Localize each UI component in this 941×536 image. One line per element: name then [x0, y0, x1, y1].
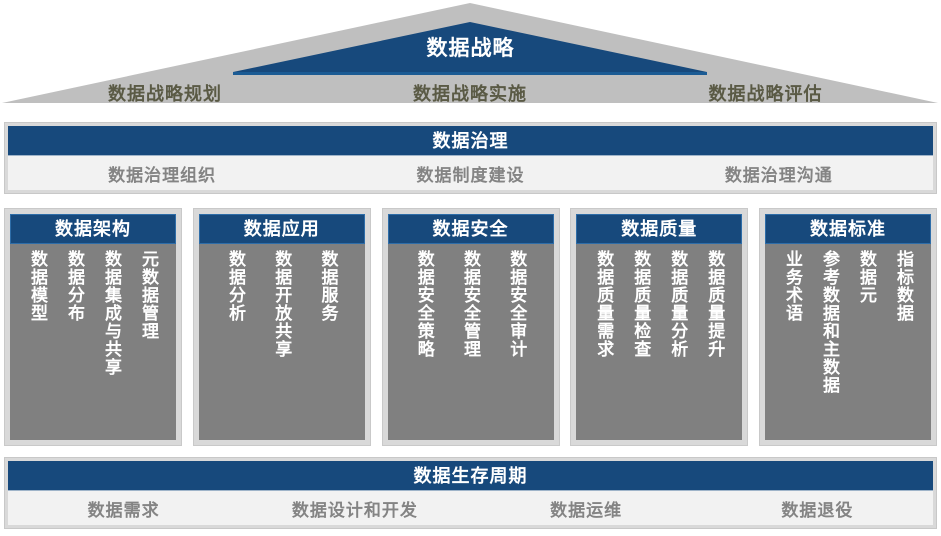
pillar-data-standard[interactable]: 数据标准 业务术语 参考数据和主数据 数据元 指标数据: [759, 208, 937, 446]
governance-subitem-policy[interactable]: 数据制度建设: [316, 161, 624, 186]
roof-inner-triangle-base: [233, 72, 707, 75]
lifecycle-band: 数据生存周期 数据需求 数据设计和开发 数据运维 数据退役: [4, 457, 937, 529]
pillar-item[interactable]: 参考数据和主数据: [820, 250, 839, 394]
pillar-data-quality[interactable]: 数据质量 数据质量需求 数据质量检查 数据质量分析 数据质量提升: [570, 208, 748, 446]
pillar-title-data-security: 数据安全: [388, 214, 554, 244]
roof-section: 数据战略 数据战略规划 数据战略实施 数据战略评估: [0, 0, 941, 106]
pillar-item[interactable]: 数据安全策略: [415, 250, 434, 358]
pillar-item[interactable]: 数据质量分析: [668, 250, 687, 358]
pillar-item[interactable]: 数据集成与共享: [102, 250, 121, 376]
pillar-title-data-architecture: 数据架构: [10, 214, 176, 244]
governance-subitem-organization[interactable]: 数据治理组织: [8, 161, 316, 186]
pillar-title-data-quality: 数据质量: [576, 214, 742, 244]
lifecycle-band-inner: 数据生存周期 数据需求 数据设计和开发 数据运维 数据退役: [8, 461, 933, 525]
pillar-body-data-security: 数据安全策略 数据安全管理 数据安全审计: [388, 244, 554, 440]
lifecycle-subitem-requirement[interactable]: 数据需求: [8, 496, 239, 521]
roof-subitem-planning[interactable]: 数据战略规划: [0, 80, 330, 106]
pillar-item[interactable]: 数据安全审计: [507, 250, 526, 358]
pillar-body-data-quality: 数据质量需求 数据质量检查 数据质量分析 数据质量提升: [576, 244, 742, 440]
governance-band: 数据治理 数据治理组织 数据制度建设 数据治理沟通: [4, 122, 937, 194]
pillar-title-data-application: 数据应用: [199, 214, 365, 244]
pillar-data-security[interactable]: 数据安全 数据安全策略 数据安全管理 数据安全审计: [382, 208, 560, 446]
lifecycle-subitems: 数据需求 数据设计和开发 数据运维 数据退役: [8, 491, 933, 525]
pillar-item[interactable]: 指标数据: [894, 250, 913, 322]
pillar-item[interactable]: 数据质量需求: [594, 250, 613, 358]
data-governance-framework-diagram: 数据战略 数据战略规划 数据战略实施 数据战略评估 数据治理 数据治理组织 数据…: [0, 0, 941, 536]
pillar-item[interactable]: 数据分析: [226, 250, 245, 322]
pillar-item[interactable]: 数据开放共享: [272, 250, 291, 358]
roof-subitem-evaluation[interactable]: 数据战略评估: [610, 80, 941, 106]
pillar-item[interactable]: 数据分布: [65, 250, 84, 322]
lifecycle-subitem-retirement[interactable]: 数据退役: [702, 496, 933, 521]
lifecycle-subitem-operations[interactable]: 数据运维: [471, 496, 702, 521]
pillar-item[interactable]: 数据质量检查: [631, 250, 650, 358]
pillar-body-data-application: 数据分析 数据开放共享 数据服务: [199, 244, 365, 440]
pillar-data-application[interactable]: 数据应用 数据分析 数据开放共享 数据服务: [193, 208, 371, 446]
roof-title: 数据战略: [0, 36, 941, 62]
pillar-item[interactable]: 数据元: [857, 250, 876, 304]
roof-subitem-implementation[interactable]: 数据战略实施: [330, 80, 610, 106]
governance-band-inner: 数据治理 数据治理组织 数据制度建设 数据治理沟通: [8, 126, 933, 190]
pillar-item[interactable]: 数据安全管理: [461, 250, 480, 358]
governance-subitems: 数据治理组织 数据制度建设 数据治理沟通: [8, 156, 933, 190]
governance-title: 数据治理: [8, 126, 933, 156]
pillar-title-data-standard: 数据标准: [765, 214, 931, 244]
governance-subitem-communication[interactable]: 数据治理沟通: [625, 161, 933, 186]
lifecycle-subitem-design-development[interactable]: 数据设计和开发: [239, 496, 470, 521]
pillar-item[interactable]: 数据服务: [318, 250, 337, 322]
roof-subitems: 数据战略规划 数据战略实施 数据战略评估: [0, 80, 941, 106]
pillar-body-data-standard: 业务术语 参考数据和主数据 数据元 指标数据: [765, 244, 931, 440]
lifecycle-title: 数据生存周期: [8, 461, 933, 491]
pillar-item[interactable]: 数据模型: [28, 250, 47, 322]
pillars-row: 数据架构 数据模型 数据分布 数据集成与共享 元数据管理 数据应用 数据分析 数…: [4, 208, 937, 446]
pillar-item[interactable]: 业务术语: [783, 250, 802, 322]
pillar-data-architecture[interactable]: 数据架构 数据模型 数据分布 数据集成与共享 元数据管理: [4, 208, 182, 446]
pillar-item[interactable]: 数据质量提升: [705, 250, 724, 358]
pillar-item[interactable]: 元数据管理: [139, 250, 158, 340]
pillar-body-data-architecture: 数据模型 数据分布 数据集成与共享 元数据管理: [10, 244, 176, 440]
